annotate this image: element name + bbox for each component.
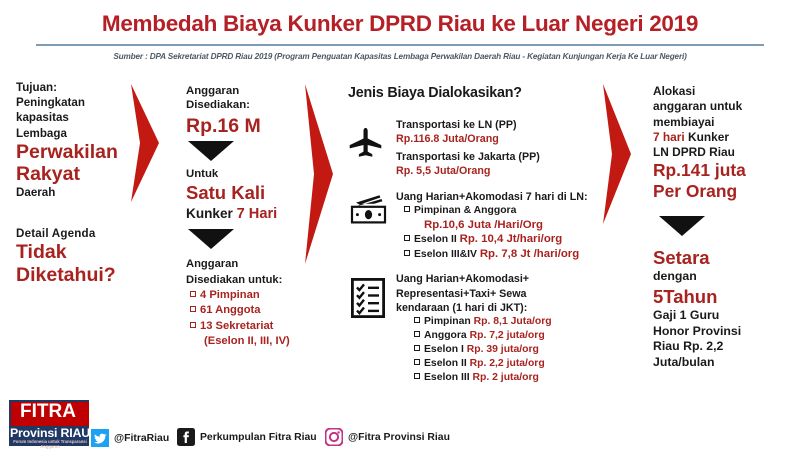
alokasi-line-5: LN DPRD Riau xyxy=(653,145,787,160)
tujuan-line-3: kapasitas xyxy=(16,110,128,125)
list-item-label: 13 Sekretariat xyxy=(200,320,273,332)
detail-agenda-highlight-1: Tidak xyxy=(16,241,128,264)
detail-agenda-label: Detail Agenda xyxy=(16,226,128,241)
jenis-biaya-heading: Jenis Biaya Dialokasikan? xyxy=(348,84,598,102)
checkbox-square-icon xyxy=(404,206,410,212)
list-item: 13 Sekretariat xyxy=(186,319,308,334)
tujuan-line-4: Lembaga xyxy=(16,126,128,141)
untuk-label: Untuk xyxy=(186,167,308,181)
tujuan-line-5: Daerah xyxy=(16,185,128,200)
airplane-icon xyxy=(348,127,384,164)
checkbox-square-icon xyxy=(414,331,420,337)
dengan-label: dengan xyxy=(653,269,787,285)
uang-harian-jkt-row: Eselon I Rp. 39 juta/org xyxy=(396,343,598,357)
fitra-logo: FITRA Provinsi RIAU Forum Indonesia untu… xyxy=(8,399,90,447)
checklist-icon xyxy=(351,278,385,323)
alokasi-tail-3: Riau Rp. 2,2 xyxy=(653,339,787,355)
transportasi-jakarta-value: Rp. 5,5 Juta/Orang xyxy=(396,164,598,178)
down-arrow-3 xyxy=(659,216,793,250)
source-subtitle: Sumber : DPA Sekretariat DPRD Riau 2019 … xyxy=(0,52,800,61)
biaya-block-uang-harian-ln: Uang Harian+Akomodasi 7 hari di LN: Pimp… xyxy=(348,190,598,262)
uang-harian-ln-row: Eselon III&IV Rp. 7,8 Jt /hari/org xyxy=(396,247,598,262)
row-value: Rp. 2 juta/org xyxy=(473,372,539,383)
uang-harian-jkt-row: Pimpinan Rp. 8,1 Juta/org xyxy=(396,315,598,329)
uang-harian-ln-row: Pimpinan & Anggora xyxy=(396,204,598,218)
header-divider xyxy=(36,44,764,46)
checkbox-square-icon xyxy=(404,250,410,256)
social-handle[interactable]: @Fitra Provinsi Riau xyxy=(348,432,450,443)
row-value: Rp. 7,2 juta/org xyxy=(470,330,545,341)
uang-harian-jkt-title-3: kendaraan (1 hari di JKT): xyxy=(396,301,598,315)
checkbox-square-icon xyxy=(190,291,196,297)
checkbox-square-icon xyxy=(190,322,196,328)
detail-agenda-highlight-2: Diketahui? xyxy=(16,264,128,287)
row-label: Eselon III xyxy=(424,372,473,383)
down-arrow-1 xyxy=(188,141,310,163)
infographic-canvas: Membedah Biaya Kunker DPRD Riau ke Luar … xyxy=(0,0,800,450)
tujuan-highlight-1: Perwakilan xyxy=(16,141,128,163)
row-value: Rp. 2,2 juta/org xyxy=(470,358,545,369)
uang-harian-ln-value: Rp.10,6 Juta /Hari/Org xyxy=(396,218,598,232)
alokasi-line-4-black: Kunker xyxy=(688,130,729,144)
checkbox-square-icon xyxy=(414,317,420,323)
uang-harian-jkt-row: Eselon III Rp. 2 juta/org xyxy=(396,371,598,385)
column-alokasi: Alokasi anggaran untuk membiayai 7 hari … xyxy=(653,84,787,370)
alokasi-tail-2: Honor Provinsi xyxy=(653,324,787,340)
biaya-block-transportasi: Transportasi ke LN (PP) Rp.116.8 Juta/Or… xyxy=(348,118,598,178)
cash-icon xyxy=(350,194,388,229)
uang-harian-jkt-title-1: Uang Harian+Akomodasi+ xyxy=(396,272,598,286)
list-item: 4 Pimpinan xyxy=(186,288,308,303)
checkbox-square-icon xyxy=(190,306,196,312)
alokasi-amount-2: Per Orang xyxy=(653,181,787,202)
anggaran-list-title-2: Disediakan untuk: xyxy=(186,273,308,288)
row-label: Eselon II xyxy=(414,234,460,245)
row-value: Rp. 10,4 Jt/hari/org xyxy=(460,233,563,245)
social-handle[interactable]: @FitraRiau xyxy=(114,433,169,444)
alokasi-line-2: anggaran untuk xyxy=(653,99,787,114)
checkbox-square-icon xyxy=(414,373,420,379)
social-facebook[interactable]: Perkumpulan Fitra Riau xyxy=(177,428,317,446)
transportasi-ln-value: Rp.116.8 Juta/Orang xyxy=(396,132,598,146)
alokasi-line-4-red: 7 hari xyxy=(653,130,688,144)
down-arrow-2 xyxy=(188,229,310,253)
logo-name: FITRA xyxy=(9,401,87,423)
kunker-prefix: Kunker xyxy=(186,206,237,221)
twitter-icon[interactable] xyxy=(91,429,109,447)
logo-tagline: Forum Indonesia untuk Transparansi Angga… xyxy=(9,439,91,449)
biaya-block-uang-harian-jkt: Uang Harian+Akomodasi+ Representasi+Taxi… xyxy=(348,272,598,385)
row-label: Eselon II xyxy=(424,358,470,369)
list-item-label: 4 Pimpinan xyxy=(200,289,260,301)
chevron-right-arrow-1 xyxy=(131,84,159,202)
transportasi-ln-label: Transportasi ke LN (PP) xyxy=(396,118,598,132)
alokasi-tail-1: Gaji 1 Guru xyxy=(653,308,787,324)
uang-harian-jkt-title-2: Representasi+Taxi+ Sewa xyxy=(396,287,598,301)
uang-harian-jkt-row: Eselon II Rp. 2,2 juta/org xyxy=(396,357,598,371)
row-value: Rp. 7,8 Jt /hari/org xyxy=(480,248,579,260)
row-label: Pimpinan & Anggora xyxy=(414,205,516,216)
transportasi-jakarta-label: Transportasi ke Jakarta (PP) xyxy=(396,150,598,164)
kunker-line: Kunker 7 Hari xyxy=(186,205,308,223)
alokasi-line-1: Alokasi xyxy=(653,84,787,99)
satu-kali: Satu Kali xyxy=(186,181,308,205)
social-twitter[interactable]: @FitraRiau xyxy=(91,429,169,447)
list-item-label: 61 Anggota xyxy=(200,304,261,316)
column-anggaran: Anggaran Disediakan: Rp.16 M Untuk Satu … xyxy=(186,84,308,350)
logo-subtitle: Provinsi RIAU xyxy=(9,426,91,440)
list-items-note: (Eselon II, III, IV) xyxy=(186,334,308,349)
tujuan-line-2: Peningkatan xyxy=(16,95,128,110)
kunker-highlight: 7 Hari xyxy=(237,206,278,222)
tujuan-highlight-2: Rakyat xyxy=(16,163,128,185)
anggaran-amount: Rp.16 M xyxy=(186,113,308,139)
list-item: 61 Anggota xyxy=(186,303,308,318)
row-label: Pimpinan xyxy=(424,316,474,327)
anggaran-list-title-1: Anggaran xyxy=(186,257,308,272)
alokasi-tail-4: Juta/bulan xyxy=(653,355,787,371)
chevron-right-arrow-3 xyxy=(603,84,631,224)
row-label: Eselon I xyxy=(424,344,467,355)
uang-harian-ln-row: Eselon II Rp. 10,4 Jt/hari/org xyxy=(396,232,598,247)
uang-harian-ln-title: Uang Harian+Akomodasi 7 hari di LN: xyxy=(396,190,598,204)
anggaran-line-1: Anggaran xyxy=(186,84,308,98)
checkbox-square-icon xyxy=(404,235,410,241)
column-tujuan: Tujuan: Peningkatan kapasitas Lembaga Pe… xyxy=(16,80,128,287)
column-jenis-biaya: Jenis Biaya Dialokasikan? Transportasi k… xyxy=(348,84,598,385)
alokasi-line-3: membiayai xyxy=(653,115,787,130)
tahun-value: 5Tahun xyxy=(653,285,787,308)
row-label: Anggora xyxy=(424,330,470,341)
alokasi-line-4: 7 hari Kunker xyxy=(653,130,787,145)
checkbox-square-icon xyxy=(414,345,420,351)
row-value: Rp. 8,1 Juta/org xyxy=(474,316,552,327)
page-title: Membedah Biaya Kunker DPRD Riau ke Luar … xyxy=(0,11,800,37)
social-instagram[interactable]: @Fitra Provinsi Riau xyxy=(325,428,450,446)
anggaran-line-2: Disediakan: xyxy=(186,98,308,112)
facebook-icon[interactable] xyxy=(177,428,195,446)
social-handle[interactable]: Perkumpulan Fitra Riau xyxy=(200,432,317,443)
alokasi-amount-1: Rp.141 juta xyxy=(653,160,787,181)
uang-harian-jkt-row: Anggora Rp. 7,2 juta/org xyxy=(396,329,598,343)
row-label: Eselon III&IV xyxy=(414,249,480,260)
tujuan-line-1: Tujuan: xyxy=(16,80,128,95)
row-value: Rp. 39 juta/org xyxy=(467,344,539,355)
checkbox-square-icon xyxy=(414,359,420,365)
instagram-icon[interactable] xyxy=(325,428,343,446)
